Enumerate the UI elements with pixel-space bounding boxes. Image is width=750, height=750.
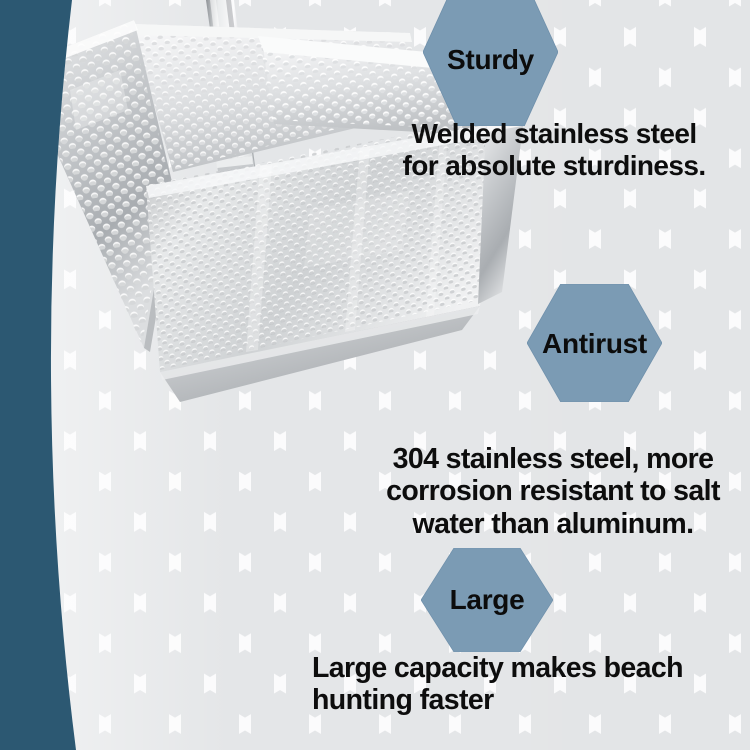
badge-large-label: Large bbox=[450, 584, 525, 616]
caption-antirust-line-2: corrosion resistant to salt bbox=[358, 475, 748, 507]
caption-large-line-1: Large capacity makes beach bbox=[312, 652, 750, 684]
caption-sturdy-line-1: Welded stainless steel bbox=[362, 118, 746, 150]
caption-antirust-line-1: 304 stainless steel, more bbox=[358, 443, 748, 475]
caption-sturdy-line-2: for absolute sturdiness. bbox=[362, 150, 746, 182]
badge-antirust-label: Antirust bbox=[542, 328, 647, 360]
caption-large: Large capacity makes beach hunting faste… bbox=[300, 652, 750, 717]
badge-antirust[interactable]: Antirust bbox=[527, 284, 662, 402]
badge-sturdy-label: Sturdy bbox=[447, 44, 534, 76]
caption-sturdy: Welded stainless steel for absolute stur… bbox=[362, 118, 746, 182]
infographic-canvas: Sturdy Welded stainless steel for absolu… bbox=[0, 0, 750, 750]
caption-antirust-line-3: water than aluminum. bbox=[358, 508, 748, 540]
caption-antirust: 304 stainless steel, more corrosion resi… bbox=[358, 443, 748, 540]
badge-sturdy[interactable]: Sturdy bbox=[423, 0, 558, 126]
caption-large-line-2: hunting faster bbox=[312, 684, 750, 716]
badge-large[interactable]: Large bbox=[421, 548, 553, 652]
